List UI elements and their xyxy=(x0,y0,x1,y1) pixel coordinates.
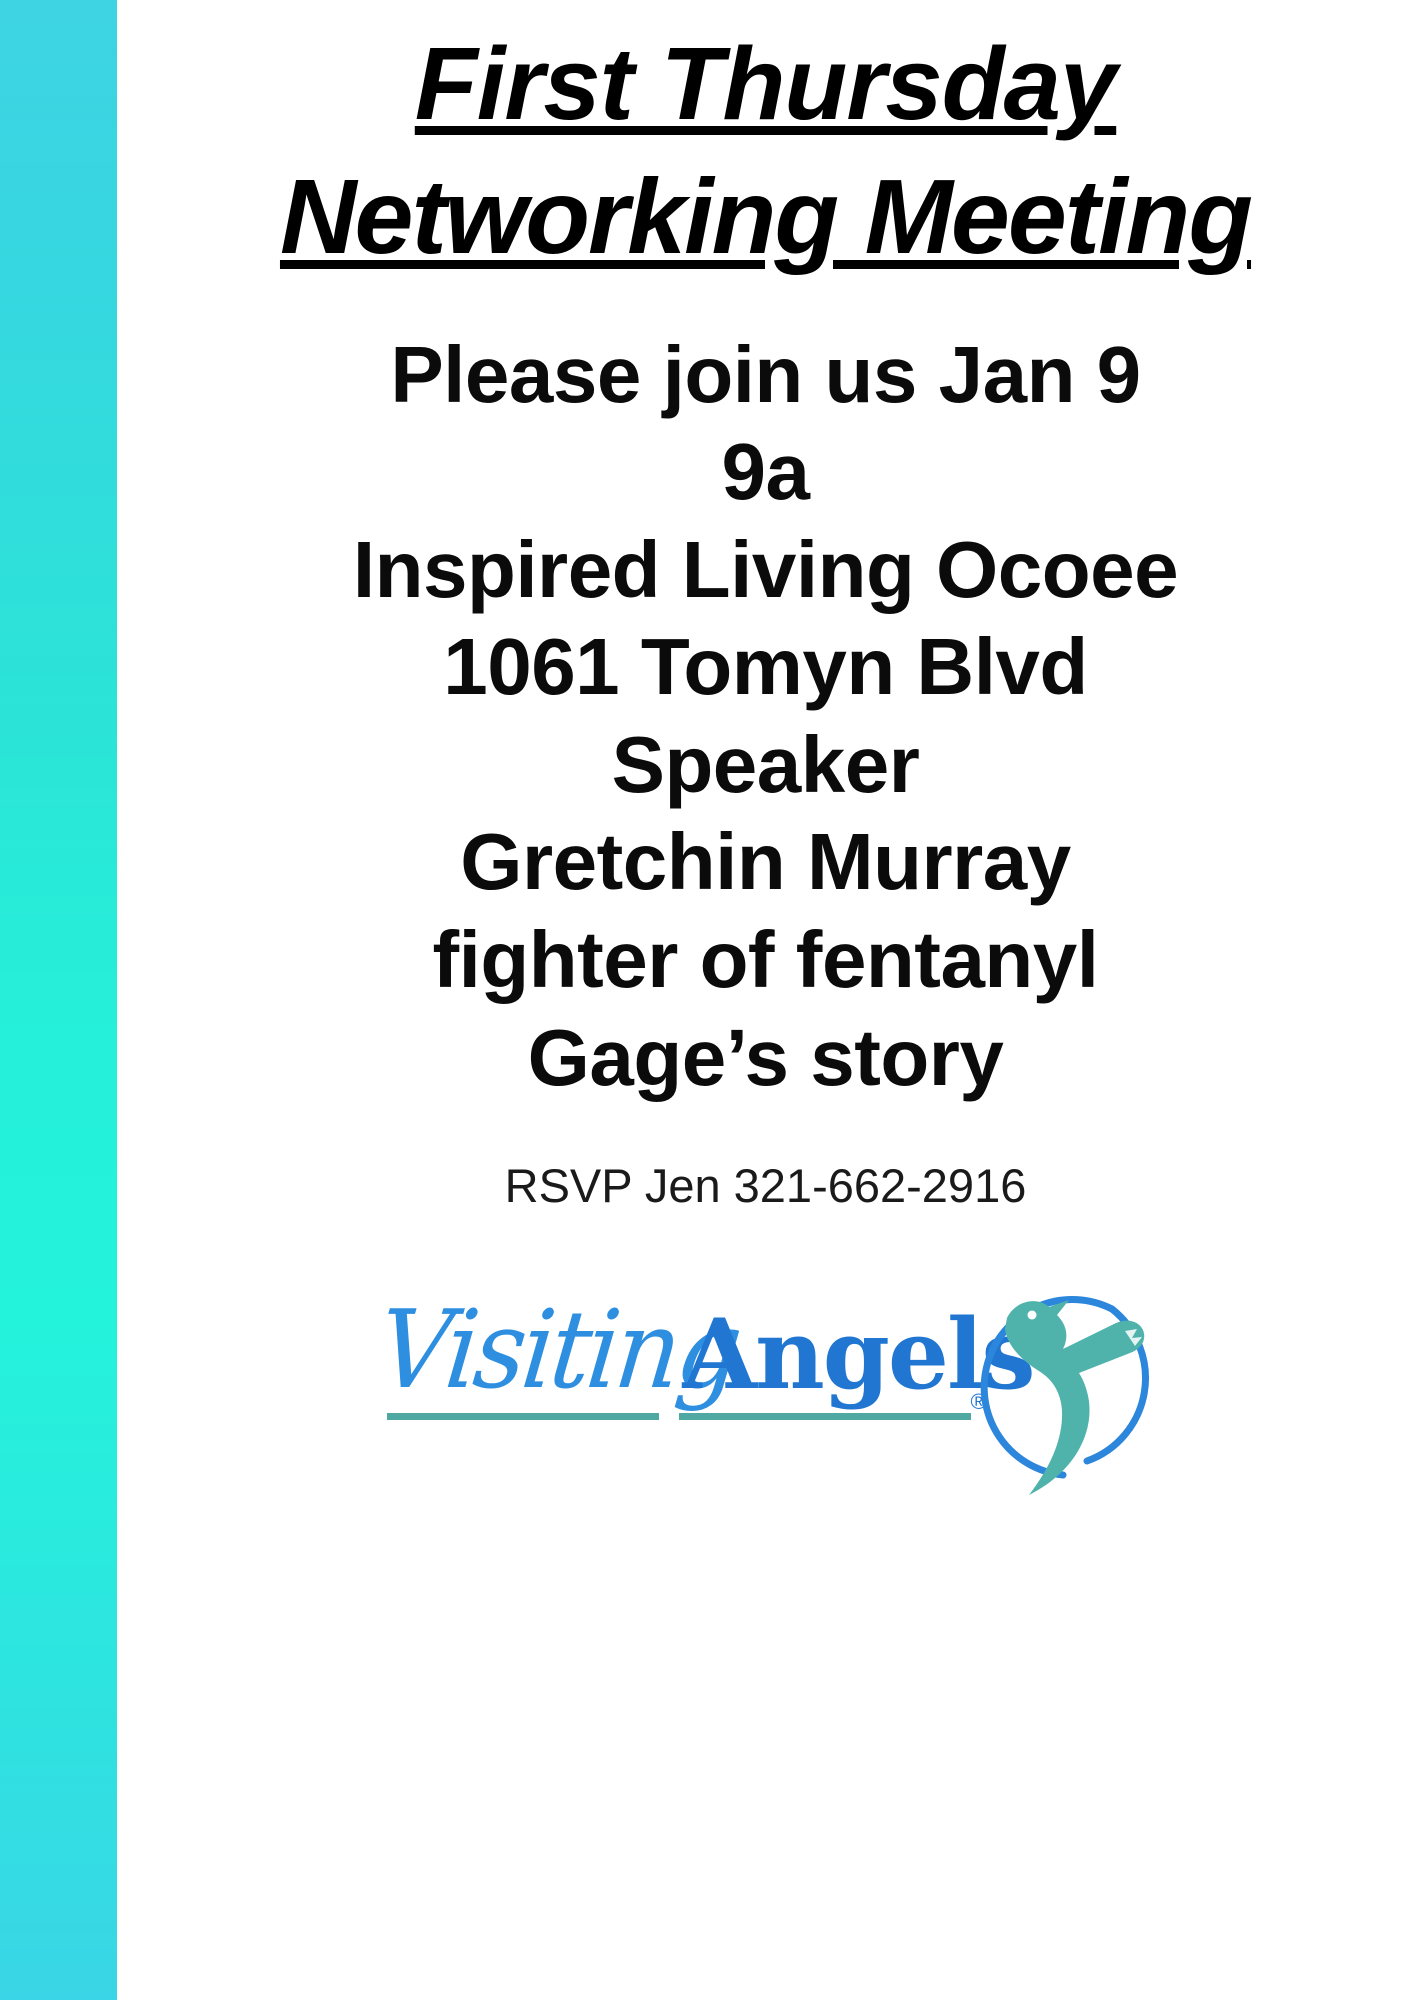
body-line-venue: Inspired Living Ocoee xyxy=(117,521,1414,619)
title-line-1: First Thursday xyxy=(415,18,1116,150)
logo-underline-left xyxy=(387,1413,659,1420)
flyer-content-column: First Thursday Networking Meeting Please… xyxy=(117,0,1414,2000)
body-line-speaker-name: Gretchin Murray xyxy=(117,813,1414,911)
left-gradient-stripe xyxy=(0,0,117,2000)
visiting-angels-logo: Visiting Angels ® xyxy=(371,1263,1161,1523)
flyer-body: Please join us Jan 9 9a Inspired Living … xyxy=(117,326,1414,1107)
dove-eye-shape xyxy=(1027,1310,1036,1319)
title-line-2: Networking Meeting xyxy=(280,150,1251,286)
logo-wordmark: Visiting Angels ® xyxy=(371,1293,981,1463)
body-line-speaker-descriptor: fighter of fentanyl xyxy=(117,911,1414,1009)
flyer-title: First Thursday Networking Meeting xyxy=(117,18,1414,286)
body-line-time: 9a xyxy=(117,423,1414,521)
dove-in-circle-icon xyxy=(911,1263,1161,1513)
rsvp-contact-line: RSVP Jen 321-662-2916 xyxy=(505,1158,1027,1214)
body-line-story-title: Gage’s story xyxy=(117,1009,1414,1107)
flyer-canvas: First Thursday Networking Meeting Please… xyxy=(0,0,1414,2000)
body-line-join-us: Please join us Jan 9 xyxy=(117,326,1414,424)
body-line-address: 1061 Tomyn Blvd xyxy=(117,618,1414,716)
body-line-speaker-label: Speaker xyxy=(117,716,1414,814)
dove-svg xyxy=(911,1263,1161,1513)
